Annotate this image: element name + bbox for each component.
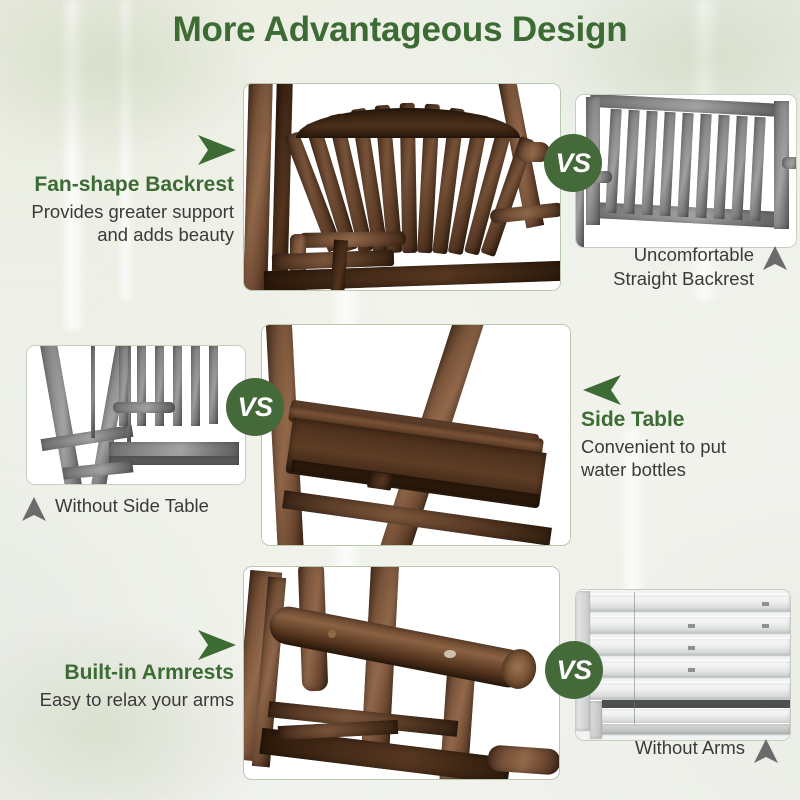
vs-badge-side-table: VS <box>226 378 284 436</box>
vs-badge-fan-shape-backrest: VS <box>544 134 602 192</box>
callout-headline: Built-in Armrests <box>0 660 234 686</box>
page-title: More Advantageous Design <box>0 10 800 50</box>
vs-badge-built-in-armrests: VS <box>545 641 603 699</box>
callout-headline: Side Table <box>581 407 800 433</box>
photo-canvas <box>244 567 559 779</box>
caption-line-1: Without Side Table <box>55 494 209 518</box>
callout-side-table: Side Table Convenient to put water bottl… <box>581 407 800 482</box>
caption-line-2: Straight Backrest <box>613 267 754 291</box>
caption-text: Without Side Table <box>55 494 209 518</box>
photo-canvas <box>244 84 560 290</box>
caption-text: Uncomfortable Straight Backrest <box>613 243 754 290</box>
callout-body-line-1: Convenient to put <box>581 435 800 458</box>
feature-photo-built-in-armrests <box>243 566 560 780</box>
callout-fan-shape-backrest: Fan-shape Backrest Provides greater supp… <box>0 172 242 247</box>
compare-photo-straight-backrest <box>575 94 797 248</box>
feature-photo-side-table <box>261 324 571 546</box>
caption-straight-backrest: Uncomfortable Straight Backrest <box>577 243 789 290</box>
photo-canvas <box>27 346 245 484</box>
arrow-right-green-icon <box>196 133 238 167</box>
compare-photo-without-side-table <box>26 345 246 485</box>
feature-photo-fan-shape-backrest <box>243 83 561 291</box>
caption-line-1: Without Arms <box>635 736 745 760</box>
photo-canvas <box>576 590 790 740</box>
photo-canvas <box>262 325 570 545</box>
arrow-right-green-icon <box>196 628 238 662</box>
callout-body-line-2: water bottles <box>581 458 800 481</box>
callout-body-line-1: Easy to relax your arms <box>0 688 234 711</box>
arrow-up-gray-icon <box>761 244 789 272</box>
arrow-up-gray-icon <box>20 495 48 523</box>
caption-without-arms: Without Arms <box>635 736 780 765</box>
photo-canvas <box>576 95 796 247</box>
callout-headline: Fan-shape Backrest <box>0 172 234 198</box>
callout-body-line-1: Provides greater support <box>0 200 234 223</box>
callout-body-line-2: and adds beauty <box>0 223 234 246</box>
caption-line-1: Uncomfortable <box>613 243 754 267</box>
arrow-up-gray-icon <box>752 737 780 765</box>
caption-without-side-table: Without Side Table <box>20 494 209 523</box>
compare-photo-without-arms <box>575 589 791 741</box>
arrow-left-green-icon <box>581 373 623 407</box>
caption-text: Without Arms <box>635 736 745 760</box>
callout-built-in-armrests: Built-in Armrests Easy to relax your arm… <box>0 660 242 711</box>
